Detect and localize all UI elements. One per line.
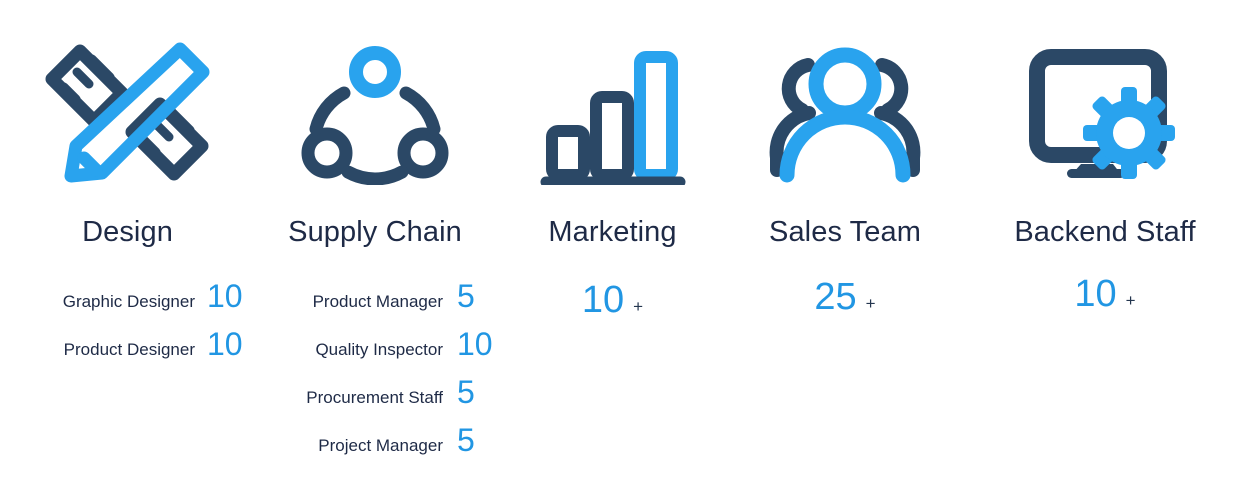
department-title-backend-staff: Backend Staff <box>965 216 1245 249</box>
role-count: 5 <box>457 424 505 456</box>
monitor-gear-icon <box>965 25 1245 185</box>
pencil-ruler-icon <box>0 25 255 185</box>
list-item: Graphic Designer 10 <box>0 280 255 328</box>
role-label: Quality Inspector <box>315 340 443 360</box>
role-label: Product Manager <box>313 292 443 312</box>
list-item: Quality Inspector 10 <box>245 328 505 376</box>
summary-value: 10 <box>1074 275 1116 313</box>
bar-chart-icon <box>500 25 725 185</box>
role-label: Product Designer <box>64 340 195 360</box>
role-count: 5 <box>457 376 505 408</box>
summary-sales-team: 25 + <box>725 278 965 316</box>
department-title-design: Design <box>0 216 255 249</box>
network-nodes-icon <box>245 25 505 185</box>
plus-suffix: + <box>633 298 643 315</box>
plus-suffix: + <box>866 295 876 312</box>
list-item: Product Manager 5 <box>245 280 505 328</box>
list-item: Procurement Staff 5 <box>245 376 505 424</box>
role-label: Graphic Designer <box>63 292 195 312</box>
department-title-sales-team: Sales Team <box>725 216 965 249</box>
summary-marketing: 10 + <box>500 281 725 319</box>
list-item: Product Designer 10 <box>0 328 255 376</box>
summary-value: 10 <box>582 281 624 319</box>
summary-value: 25 <box>814 278 856 316</box>
role-label: Project Manager <box>318 436 443 456</box>
department-title-marketing: Marketing <box>500 216 725 249</box>
people-group-icon <box>725 25 965 185</box>
role-list-supply-chain: Product Manager 5 Quality Inspector 10 P… <box>245 280 505 472</box>
role-label: Procurement Staff <box>306 388 443 408</box>
role-count: 10 <box>457 328 505 360</box>
department-title-supply-chain: Supply Chain <box>245 216 505 249</box>
headcount-infographic: Design Graphic Designer 10 Product Desig… <box>0 0 1245 504</box>
plus-suffix: + <box>1126 292 1136 309</box>
summary-backend-staff: 10 + <box>965 275 1245 313</box>
role-list-design: Graphic Designer 10 Product Designer 10 <box>0 280 255 376</box>
role-count: 5 <box>457 280 505 312</box>
list-item: Project Manager 5 <box>245 424 505 472</box>
